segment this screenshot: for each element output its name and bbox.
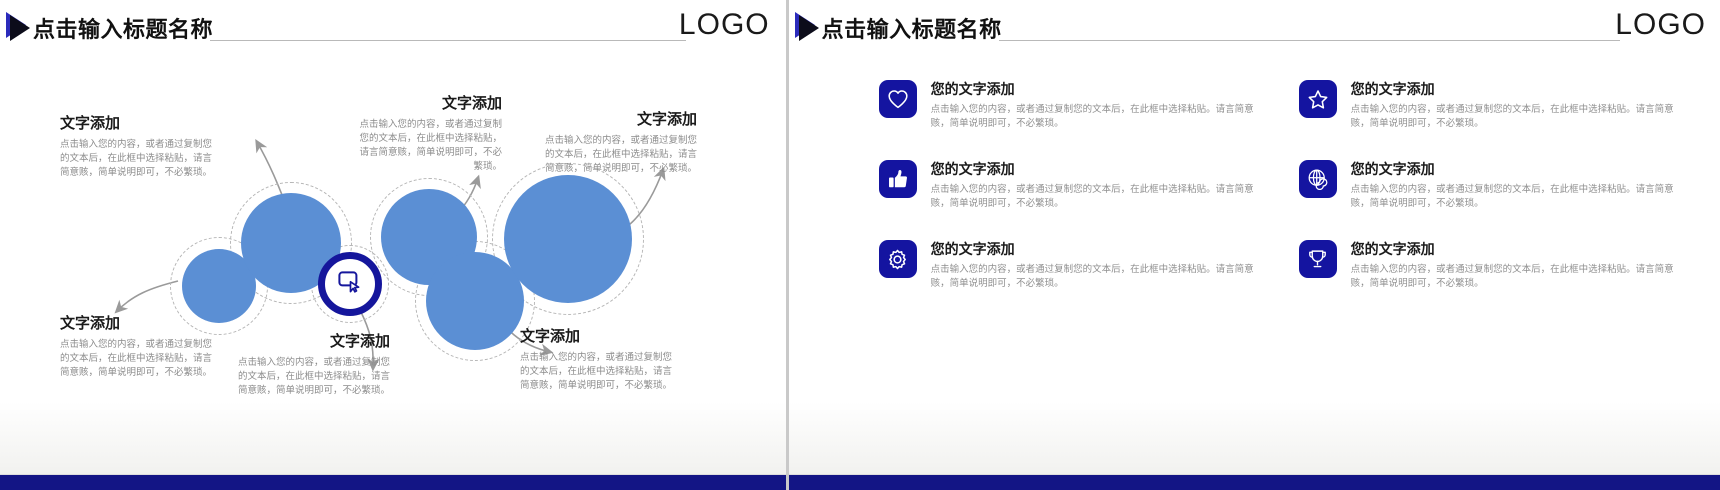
gear-icon — [879, 240, 917, 278]
text-block-1-body: 点击输入您的内容，或者通过复制您的文本后，在此框中选择粘贴，请言简意赅，简单说明… — [60, 138, 212, 180]
icon-card-globe[interactable]: 您的文字添加 点击输入您的内容，或者通过复制您的文本后，在此框中选择粘贴。请言简… — [1299, 158, 1679, 211]
icon-card-star-heading: 您的文字添加 — [1351, 79, 1676, 99]
text-block-2-heading: 文字添加 — [352, 92, 502, 113]
icon-card-trophy-heading: 您的文字添加 — [1351, 239, 1676, 259]
header-divider — [999, 40, 1620, 41]
text-block-5-heading: 文字添加 — [238, 330, 390, 351]
icon-card-gear[interactable]: 您的文字添加 点击输入您的内容，或者通过复制您的文本后，在此框中选择粘贴。请言简… — [879, 238, 1259, 291]
triangle-marker-icon — [799, 15, 819, 41]
page-title: 点击输入标题名称 — [822, 12, 1002, 44]
text-block-3-heading: 文字添加 — [545, 108, 697, 129]
text-block-6-heading: 文字添加 — [520, 325, 672, 346]
icon-card-heart-heading: 您的文字添加 — [931, 79, 1256, 99]
icon-card-grid: 您的文字添加 点击输入您的内容，或者通过复制您的文本后，在此框中选择粘贴。请言简… — [879, 78, 1679, 291]
logo: LOGO — [1615, 8, 1706, 42]
text-block-1-heading: 文字添加 — [60, 112, 212, 133]
slide-header-right: 点击输入标题名称 LOGO — [789, 0, 1720, 46]
icon-card-gear-body: 您的文字添加 点击输入您的内容，或者通过复制您的文本后，在此框中选择粘贴。请言简… — [931, 238, 1256, 291]
text-block-1: 文字添加 点击输入您的内容，或者通过复制您的文本后，在此框中选择粘贴，请言简意赅… — [60, 112, 212, 180]
icon-card-star[interactable]: 您的文字添加 点击输入您的内容，或者通过复制您的文本后，在此框中选择粘贴。请言简… — [1299, 78, 1679, 131]
bottom-bar-right — [789, 474, 1720, 490]
thumbs-up-icon — [879, 160, 917, 198]
icon-card-thumbs-up-heading: 您的文字添加 — [931, 159, 1256, 179]
icon-card-heart-text: 点击输入您的内容，或者通过复制您的文本后，在此框中选择粘贴。请言简意赅，简单说明… — [931, 103, 1256, 131]
text-block-2-body: 点击输入您的内容，或者通过复制您的文本后，在此框中选择粘贴，请言简意赅，简单说明… — [352, 118, 502, 174]
icon-card-trophy-body: 您的文字添加 点击输入您的内容，或者通过复制您的文本后，在此框中选择粘贴。请言简… — [1351, 238, 1676, 291]
icon-card-thumbs-up-body: 您的文字添加 点击输入您的内容，或者通过复制您的文本后，在此框中选择粘贴。请言简… — [931, 158, 1256, 211]
circle-node-5[interactable] — [426, 252, 524, 350]
icon-card-heart-body: 您的文字添加 点击输入您的内容，或者通过复制您的文本后，在此框中选择粘贴。请言简… — [931, 78, 1256, 131]
text-block-3-body: 点击输入您的内容，或者通过复制您的文本后，在此框中选择粘贴，请言简意赅，简单说明… — [545, 134, 697, 176]
slide-circles: 点击输入标题名称 LOGO — [0, 0, 786, 490]
heart-icon — [879, 80, 917, 118]
circle-diagram: 文字添加 点击输入您的内容，或者通过复制您的文本后，在此框中选择粘贴，请言简意赅… — [0, 0, 786, 490]
bottom-bar-left — [0, 474, 786, 490]
slide-deck: 点击输入标题名称 LOGO — [0, 0, 1720, 490]
text-block-3: 文字添加 点击输入您的内容，或者通过复制您的文本后，在此框中选择粘贴，请言简意赅… — [545, 108, 697, 176]
icon-card-gear-text: 点击输入您的内容，或者通过复制您的文本后，在此框中选择粘贴。请言简意赅，简单说明… — [931, 263, 1256, 291]
text-block-5: 文字添加 点击输入您的内容，或者通过复制您的文本后，在此框中选择粘贴，请言简意赅… — [238, 330, 390, 398]
text-block-4-body: 点击输入您的内容，或者通过复制您的文本后，在此框中选择粘贴，请言简意赅，简单说明… — [60, 338, 216, 380]
icon-card-trophy-text: 点击输入您的内容，或者通过复制您的文本后，在此框中选择粘贴。请言简意赅，简单说明… — [1351, 263, 1676, 291]
text-block-4: 文字添加 点击输入您的内容，或者通过复制您的文本后，在此框中选择粘贴，请言简意赅… — [60, 312, 216, 380]
center-node[interactable] — [318, 252, 382, 316]
text-block-6: 文字添加 点击输入您的内容，或者通过复制您的文本后，在此框中选择粘贴，请言简意赅… — [520, 325, 672, 393]
trophy-icon — [1299, 240, 1337, 278]
text-block-5-body: 点击输入您的内容，或者通过复制您的文本后，在此框中选择粘贴，请言简意赅，简单说明… — [238, 356, 390, 398]
title-row-right: 点击输入标题名称 — [799, 12, 1002, 44]
icon-card-thumbs-up-text: 点击输入您的内容，或者通过复制您的文本后，在此框中选择粘贴。请言简意赅，简单说明… — [931, 183, 1256, 211]
globe-icon — [1299, 160, 1337, 198]
icon-card-trophy[interactable]: 您的文字添加 点击输入您的内容，或者通过复制您的文本后，在此框中选择粘贴。请言简… — [1299, 238, 1679, 291]
icon-card-star-text: 点击输入您的内容，或者通过复制您的文本后，在此框中选择粘贴。请言简意赅，简单说明… — [1351, 103, 1676, 131]
text-block-6-body: 点击输入您的内容，或者通过复制您的文本后，在此框中选择粘贴，请言简意赅，简单说明… — [520, 351, 672, 393]
icon-card-globe-text: 点击输入您的内容，或者通过复制您的文本后，在此框中选择粘贴。请言简意赅，简单说明… — [1351, 183, 1676, 211]
icon-card-heart[interactable]: 您的文字添加 点击输入您的内容，或者通过复制您的文本后，在此框中选择粘贴。请言简… — [879, 78, 1259, 131]
text-block-2: 文字添加 点击输入您的内容，或者通过复制您的文本后，在此框中选择粘贴，请言简意赅… — [352, 92, 502, 174]
star-icon — [1299, 80, 1337, 118]
circle-node-6[interactable] — [504, 175, 632, 303]
speech-bubble-cursor-icon — [337, 270, 363, 299]
icon-card-thumbs-up[interactable]: 您的文字添加 点击输入您的内容，或者通过复制您的文本后，在此框中选择粘贴。请言简… — [879, 158, 1259, 211]
slide-icon-cards: 点击输入标题名称 LOGO 您的文字添加 点击输入您的内容，或者通过复制您的文本… — [786, 0, 1720, 490]
icon-card-star-body: 您的文字添加 点击输入您的内容，或者通过复制您的文本后，在此框中选择粘贴。请言简… — [1351, 78, 1676, 131]
icon-card-gear-heading: 您的文字添加 — [931, 239, 1256, 259]
icon-card-globe-body: 您的文字添加 点击输入您的内容，或者通过复制您的文本后，在此框中选择粘贴。请言简… — [1351, 158, 1676, 211]
text-block-4-heading: 文字添加 — [60, 312, 216, 333]
icon-card-globe-heading: 您的文字添加 — [1351, 159, 1676, 179]
